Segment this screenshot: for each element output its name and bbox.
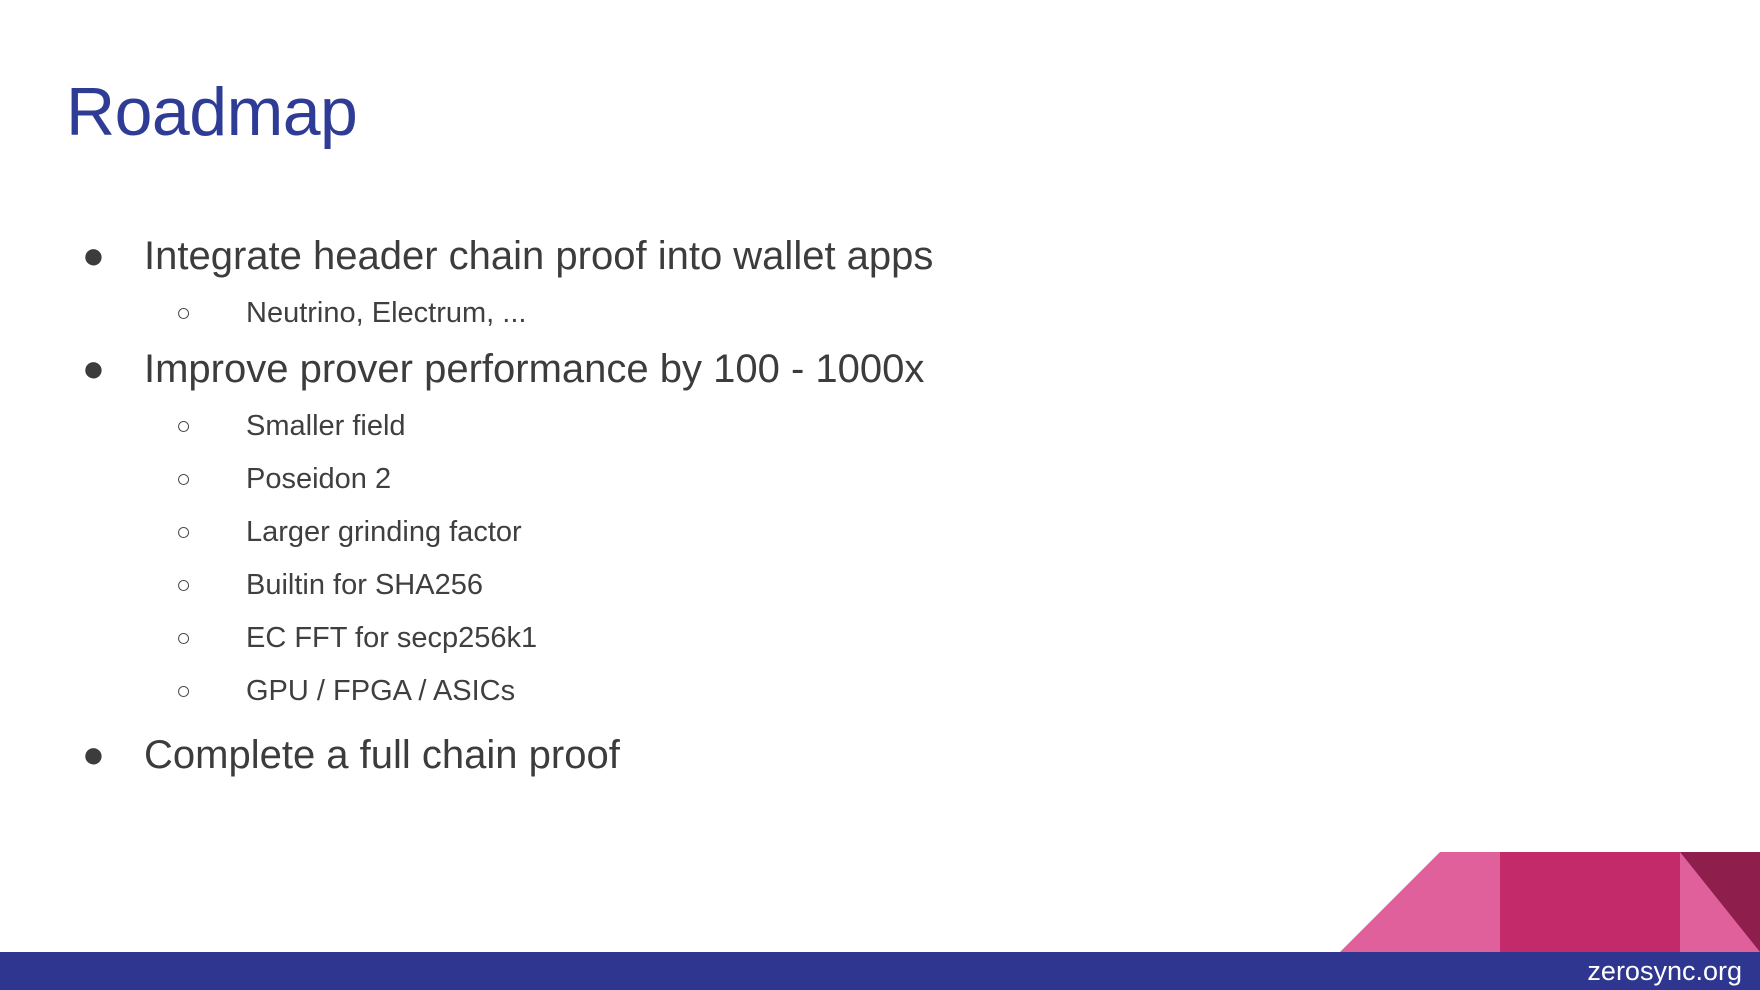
list-item-label: Poseidon 2 xyxy=(246,454,391,505)
list-item: ● Integrate header chain proof into wall… xyxy=(66,228,1266,284)
list-item-label: Larger grinding factor xyxy=(246,507,522,558)
list-item: ○ Smaller field xyxy=(66,401,1266,452)
list-item: ○ GPU / FPGA / ASICs xyxy=(66,666,1266,717)
list-item-label: Builtin for SHA256 xyxy=(246,560,483,611)
bullet-circle-icon: ○ xyxy=(66,613,246,664)
list-item: ● Improve prover performance by 100 - 10… xyxy=(66,341,1266,397)
list-item: ○ Poseidon 2 xyxy=(66,454,1266,505)
list-item-label: EC FFT for secp256k1 xyxy=(246,613,537,664)
list-item-label: Integrate header chain proof into wallet… xyxy=(144,228,933,284)
list-item-label: Smaller field xyxy=(246,401,406,452)
bullet-circle-icon: ○ xyxy=(66,288,246,339)
bullet-circle-icon: ○ xyxy=(66,454,246,505)
list-item: ○ Neutrino, Electrum, ... xyxy=(66,288,1266,339)
list-item: ○ Larger grinding factor xyxy=(66,507,1266,558)
footer-bar: zerosync.org xyxy=(0,952,1760,990)
list-item-label: Complete a full chain proof xyxy=(144,727,620,783)
bullet-disc-icon: ● xyxy=(66,228,144,284)
footer-url[interactable]: zerosync.org xyxy=(1587,956,1742,986)
list-item-label: Improve prover performance by 100 - 1000… xyxy=(144,341,924,397)
bullet-circle-icon: ○ xyxy=(66,666,246,717)
list-item: ○ EC FFT for secp256k1 xyxy=(66,613,1266,664)
list-item: ● Complete a full chain proof xyxy=(66,727,1266,783)
bullet-list: ● Integrate header chain proof into wall… xyxy=(66,228,1266,787)
logo-shapes xyxy=(1340,752,1760,952)
bullet-circle-icon: ○ xyxy=(66,560,246,611)
list-item-label: GPU / FPGA / ASICs xyxy=(246,666,515,717)
bullet-circle-icon: ○ xyxy=(66,507,246,558)
bullet-disc-icon: ● xyxy=(66,341,144,397)
page-title: Roadmap xyxy=(66,68,357,156)
spacer xyxy=(66,719,1266,727)
bullet-disc-icon: ● xyxy=(66,727,144,783)
slide: Roadmap ● Integrate header chain proof i… xyxy=(0,0,1760,990)
logo-left-triangle xyxy=(1340,852,1500,952)
zerosync-logo xyxy=(1340,752,1760,952)
logo-center-block xyxy=(1500,852,1680,952)
bullet-circle-icon: ○ xyxy=(66,401,246,452)
list-item: ○ Builtin for SHA256 xyxy=(66,560,1266,611)
list-item-label: Neutrino, Electrum, ... xyxy=(246,288,526,339)
